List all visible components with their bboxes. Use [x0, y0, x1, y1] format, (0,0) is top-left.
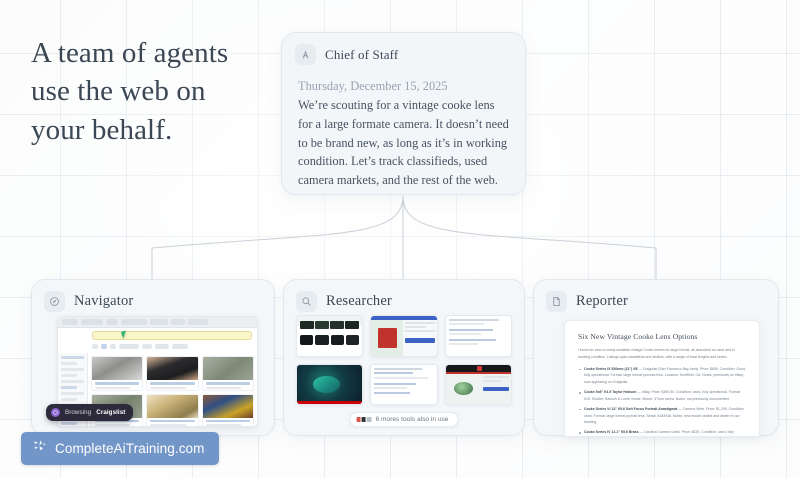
browser-agent-icon: [51, 408, 60, 417]
listing-item[interactable]: [91, 356, 143, 391]
navigator-header: Navigator: [32, 280, 274, 318]
listing-item[interactable]: [146, 394, 198, 428]
browsing-prefix: Browsing: [65, 409, 91, 416]
report-item-name: Cooke 5x8" f/4.5 Taylor Hobson: [584, 390, 636, 394]
browser-address-bar[interactable]: [92, 331, 252, 340]
chief-of-staff-body: Thursday, December 15, 2025 We’re scouti…: [282, 65, 525, 190]
researcher-header: Researcher: [284, 280, 524, 318]
research-thumbnail[interactable]: [445, 364, 512, 406]
research-thumbnail[interactable]: [370, 364, 437, 406]
report-intro: I found six new or newly available vinta…: [578, 347, 746, 361]
headline-line-1: A team of agents: [31, 34, 271, 72]
report-list-item: Cooke Series IX 530mm (21") f/8 — Craigs…: [578, 366, 746, 386]
compass-icon: [44, 291, 65, 312]
search-icon: [296, 291, 317, 312]
report-item-name: Cooke Series IX 530mm (21") f/8: [584, 367, 637, 371]
page-title: A team of agents use the web on your beh…: [31, 34, 271, 149]
research-thumbnail[interactable]: [370, 315, 437, 357]
chief-of-staff-title: Chief of Staff: [325, 47, 398, 63]
reporter-header: Reporter: [534, 280, 778, 318]
listing-item[interactable]: [202, 356, 254, 391]
agent-glyph-icon: [295, 44, 316, 65]
brand-badge[interactable]: CompleteAiTraining.com: [21, 432, 219, 465]
research-video-thumbnail[interactable]: [296, 364, 363, 406]
headline-line-2: use the web on: [31, 72, 271, 110]
researcher-card[interactable]: Researcher: [283, 279, 525, 436]
browsing-site: Craigslist: [96, 409, 125, 416]
report-list-item: Cooke Series IV 12.1" f/5.6 Brass — Card…: [578, 429, 746, 437]
chief-of-staff-message: We’re scouting for a vintage cooke lens …: [298, 98, 509, 187]
browser-tab-strip: [58, 317, 257, 328]
research-thumbnail[interactable]: [445, 315, 512, 357]
chief-of-staff-date: Thursday, December 15, 2025: [298, 77, 509, 96]
reporter-title: Reporter: [576, 293, 628, 310]
more-tools-pill[interactable]: 6 mores tools also in use: [350, 412, 459, 427]
browsing-status-badge: Browsing Craigslist: [46, 404, 133, 421]
researcher-title: Researcher: [326, 293, 392, 310]
report-item-name: Cooke Series IV 12.1" f/5.6 Brass: [584, 430, 639, 434]
headline-line-3: your behalf.: [31, 111, 271, 149]
report-title: Six New Vintage Cooke Lens Options: [578, 332, 746, 341]
brand-logo-icon: [32, 439, 48, 458]
document-icon: [546, 291, 567, 312]
research-thumbnail[interactable]: [296, 315, 363, 357]
canvas: A team of agents use the web on your beh…: [0, 0, 800, 478]
report-document[interactable]: Six New Vintage Cooke Lens Options I fou…: [564, 320, 760, 437]
researcher-thumbnail-grid[interactable]: [296, 315, 512, 405]
chief-of-staff-card[interactable]: Chief of Staff Thursday, December 15, 20…: [281, 32, 526, 195]
report-list-item: Cooke 5x8" f/4.5 Taylor Hobson — eBay. P…: [578, 389, 746, 403]
report-list: Cooke Series IX 530mm (21") f/8 — Craigs…: [578, 366, 746, 437]
listing-item[interactable]: [146, 356, 198, 391]
navigator-card[interactable]: Navigator: [31, 279, 275, 436]
report-item-name: Cooke Series VI 13" f/5.6 Soft Focus Por…: [584, 407, 677, 411]
browser-filter-toolbar[interactable]: [92, 342, 252, 350]
more-tools-label: 6 mores tools also in use: [376, 416, 449, 423]
listing-item[interactable]: [202, 394, 254, 428]
reporter-card[interactable]: Reporter Six New Vintage Cooke Lens Opti…: [533, 279, 779, 436]
tool-icons-group: [356, 416, 371, 423]
brand-label: CompleteAiTraining.com: [55, 441, 205, 456]
chief-of-staff-header: Chief of Staff: [282, 33, 525, 65]
navigator-title: Navigator: [74, 293, 133, 310]
tool-icon-3: [366, 416, 373, 423]
report-list-item: Cooke Series VI 13" f/5.6 Soft Focus Por…: [578, 406, 746, 426]
